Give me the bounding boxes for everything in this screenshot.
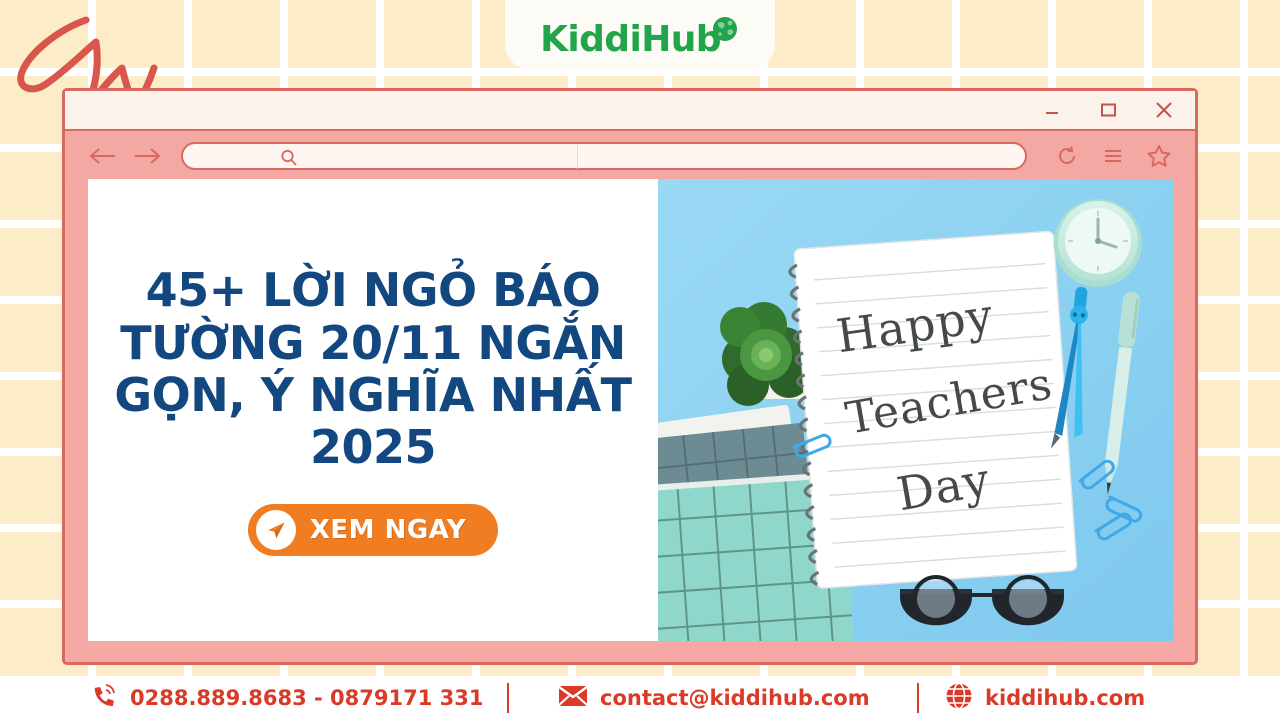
page-title: 45+ LỜI NGỎ BÁO TƯỜNG 20/11 NGẮN GỌN, Ý … [102, 264, 644, 474]
logo-text: KiddiHub [540, 19, 721, 60]
close-button[interactable] [1151, 97, 1177, 123]
phone-ring-icon [88, 681, 118, 716]
footer-divider [507, 683, 509, 713]
teachers-day-photo: Happy Teachers Day [658, 179, 1174, 641]
brand-logo[interactable]: KiddiHub [505, 0, 775, 70]
star-icon[interactable] [1139, 139, 1179, 173]
reload-icon[interactable] [1047, 139, 1087, 173]
article-promo-block: 45+ LỜI NGỎ BÁO TƯỜNG 20/11 NGẮN GỌN, Ý … [88, 179, 658, 641]
page-viewport: 45+ LỜI NGỎ BÁO TƯỜNG 20/11 NGẮN GỌN, Ý … [88, 179, 1174, 641]
footer-phone[interactable]: 0288.889.8683 - 0879171 331 [88, 681, 483, 716]
footer-divider [917, 683, 919, 713]
browser-toolbar [65, 131, 1195, 181]
search-icon [279, 148, 299, 173]
xem-ngay-button[interactable]: XEM NGAY [248, 504, 498, 556]
paper-plane-cursor-icon [256, 510, 296, 550]
globe-icon [945, 682, 973, 715]
globe-icon [710, 14, 740, 49]
footer-email-text: contact@kiddihub.com [600, 686, 870, 710]
arrow-left-icon[interactable] [81, 139, 125, 173]
maximize-button[interactable] [1095, 97, 1121, 123]
footer-contact-bar: 0288.889.8683 - 0879171 331 contact@kidd… [0, 676, 1280, 720]
search-input[interactable] [181, 142, 1027, 170]
cta-label: XEM NGAY [310, 515, 466, 545]
footer-phone-text: 0288.889.8683 - 0879171 331 [130, 686, 483, 710]
browser-titlebar [65, 91, 1195, 131]
minimize-button[interactable] [1039, 97, 1065, 123]
browser-window: 45+ LỜI NGỎ BÁO TƯỜNG 20/11 NGẮN GỌN, Ý … [62, 88, 1198, 665]
envelope-icon [558, 684, 588, 713]
footer-website[interactable]: kiddihub.com [945, 682, 1145, 715]
address-bar-divider [577, 145, 578, 169]
hamburger-menu-icon[interactable] [1093, 139, 1133, 173]
arrow-right-icon[interactable] [125, 139, 169, 173]
footer-email[interactable]: contact@kiddihub.com [558, 684, 870, 713]
footer-website-text: kiddihub.com [985, 686, 1145, 710]
